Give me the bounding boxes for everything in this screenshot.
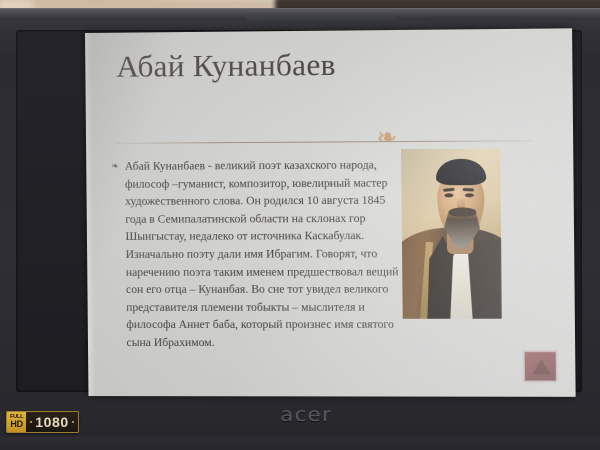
slide-body: ❧ Абай Кунанбаев - великий поэт казахско… — [111, 156, 406, 352]
presentation-slide[interactable]: Абай Кунанбаев ❧ ❧ Абай Кунанбаев - вели… — [85, 28, 576, 397]
full-hd-sticker: FULL HD 1080 — [6, 411, 79, 433]
portrait-image — [401, 149, 502, 319]
acer-brand-logo: acer — [280, 404, 332, 426]
lid-hinge — [246, 14, 396, 23]
divider-line — [116, 140, 532, 144]
slide-emblem-logo — [524, 351, 557, 381]
laptop-display[interactable]: Абай Кунанбаев ❧ ❧ Абай Кунанбаев - вели… — [85, 28, 576, 397]
flourish-ornament-icon: ❧ — [376, 125, 397, 149]
full-hd-badge: FULL HD — [7, 412, 26, 432]
resolution-label: 1080 — [35, 414, 69, 430]
bullet-ornament-icon: ❧ — [111, 158, 120, 352]
dot-left-icon — [30, 421, 32, 423]
portrait-shading — [401, 149, 502, 319]
emblem-mark-icon — [532, 359, 551, 374]
slide-title: Абай Кунанбаев — [116, 46, 532, 84]
full-hd-label-hd: HD — [10, 420, 23, 429]
slide-body-text: Абай Кунанбаев - великий поэт казахского… — [125, 156, 406, 352]
photo-of-laptop-screen: Абай Кунанбаев ❧ ❧ Абай Кунанбаев - вели… — [0, 0, 600, 450]
resolution-badge: 1080 — [26, 412, 78, 432]
laptop-deck — [0, 437, 600, 450]
dot-right-icon — [72, 421, 74, 423]
